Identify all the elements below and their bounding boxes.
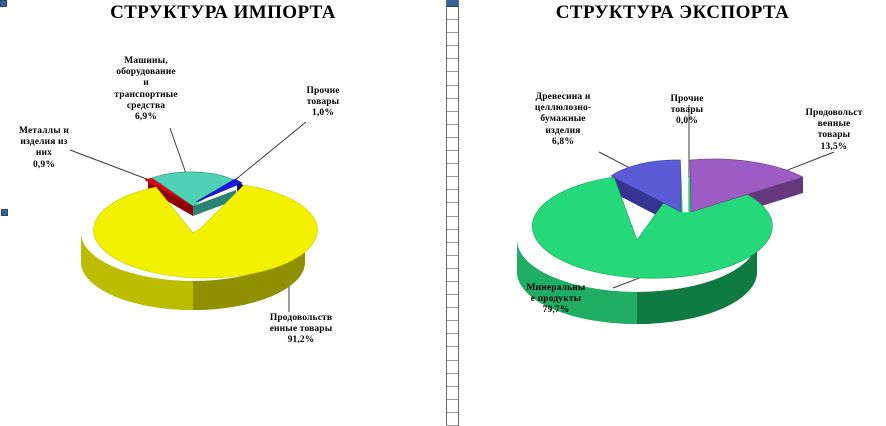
spreadsheet-cell[interactable] (447, 177, 458, 190)
import-pie-graphic (0, 0, 446, 426)
spreadsheet-cell[interactable] (447, 282, 458, 295)
chart-canvas: СТРУКТУРА ИМПОРТА (0, 0, 886, 426)
spreadsheet-cell[interactable] (447, 203, 458, 216)
spreadsheet-cell[interactable] (447, 334, 458, 347)
spreadsheet-cell[interactable] (447, 112, 458, 125)
selection-handle-middle-left[interactable] (1, 209, 8, 216)
export-chart-panel: СТРУКТУРА ЭКСПОРТА (459, 0, 886, 426)
import-label-machines: Машины, оборудование и транспортные сред… (88, 56, 204, 123)
spreadsheet-cell[interactable] (447, 33, 458, 46)
spreadsheet-cell[interactable] (447, 72, 458, 85)
selection-handle-top-left[interactable] (0, 0, 7, 7)
spreadsheet-cell[interactable] (447, 164, 458, 177)
export-pie-graphic (459, 0, 886, 426)
spreadsheet-cell[interactable] (447, 86, 458, 99)
export-label-mineral: Минеральны е продукты 79,7% (492, 283, 620, 317)
spreadsheet-cell[interactable] (447, 256, 458, 269)
spreadsheet-cell[interactable] (447, 347, 458, 360)
spreadsheet-cell[interactable] (447, 99, 458, 112)
spreadsheet-cell[interactable] (447, 361, 458, 374)
spreadsheet-cell[interactable] (447, 7, 458, 20)
spreadsheet-cell[interactable] (447, 217, 458, 230)
spreadsheet-cell[interactable] (447, 413, 458, 426)
spreadsheet-cell[interactable] (447, 20, 458, 33)
import-label-other-goods: Прочие товары 1,0% (281, 86, 365, 120)
column-header-cell[interactable] (447, 0, 458, 7)
spreadsheet-cell[interactable] (447, 387, 458, 400)
spreadsheet-cell[interactable] (447, 190, 458, 203)
spreadsheet-cell[interactable] (447, 230, 458, 243)
spreadsheet-cell[interactable] (447, 46, 458, 59)
export-label-other-goods: Прочие товары 0,0% (646, 94, 728, 128)
spreadsheet-cell[interactable] (447, 374, 458, 387)
spreadsheet-cell[interactable] (447, 59, 458, 72)
import-chart-panel: СТРУКТУРА ИМПОРТА (0, 0, 446, 426)
spreadsheet-cell[interactable] (447, 321, 458, 334)
spreadsheet-cell[interactable] (447, 269, 458, 282)
spreadsheet-cell[interactable] (447, 125, 458, 138)
spreadsheet-column-strip[interactable] (446, 0, 459, 426)
export-label-wood: Древесина и целлюлозно- бумажные изделия… (505, 92, 621, 148)
import-label-metals: Металлы и изделия из них 0,9% (0, 126, 88, 171)
spreadsheet-cell[interactable] (447, 308, 458, 321)
spreadsheet-cell[interactable] (447, 295, 458, 308)
import-label-food: Продовольств енные товары 91,2% (243, 313, 359, 347)
spreadsheet-cell[interactable] (447, 400, 458, 413)
export-label-food: Продовольст венные товары 13,5% (783, 108, 885, 153)
spreadsheet-cell[interactable] (447, 151, 458, 164)
spreadsheet-cell[interactable] (447, 138, 458, 151)
import-slice-food-top (93, 185, 317, 278)
spreadsheet-cell[interactable] (447, 243, 458, 256)
